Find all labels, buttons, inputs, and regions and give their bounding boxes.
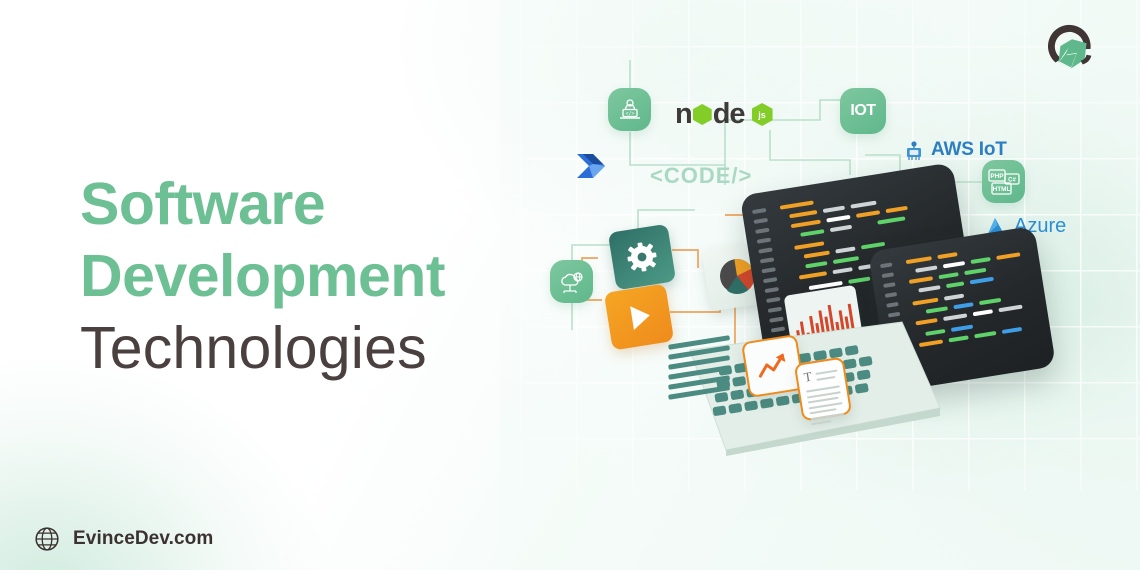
- aws-iot-icon: [902, 138, 926, 162]
- code-tag-text: <CODE/>: [650, 163, 752, 189]
- headline-line-3: Technologies: [80, 312, 550, 384]
- power-automate-icon: [575, 150, 615, 182]
- php-badge: PHP C# HTML: [982, 160, 1025, 203]
- developer-badge: </>: [608, 88, 651, 131]
- node-text-part2: de: [713, 98, 745, 131]
- document-icon: T: [803, 371, 813, 384]
- globe-icon: [34, 526, 60, 552]
- gear-card: [608, 224, 676, 291]
- node-hexagon-icon: [693, 104, 712, 125]
- aws-iot-badge: AWS IoT: [902, 138, 1007, 162]
- cloud-badge: [550, 260, 593, 303]
- developer-laptop-icon: </>: [617, 97, 643, 123]
- php-csharp-html-icon: PHP C# HTML: [987, 165, 1021, 199]
- svg-text:</>: </>: [625, 111, 634, 117]
- node-text-part1: n: [675, 98, 692, 131]
- footer-website[interactable]: EvinceDev.com: [34, 526, 213, 552]
- headline-line-2: Development: [80, 240, 550, 312]
- page-title: Software Development Technologies: [80, 168, 550, 384]
- iot-label: IOT: [850, 102, 875, 120]
- banner-root: Software Development Technologies Evince…: [0, 0, 1140, 570]
- svg-text:HTML: HTML: [992, 186, 1010, 193]
- document-card: T: [794, 356, 852, 421]
- iot-badge: IOT: [840, 88, 886, 134]
- svg-text:PHP: PHP: [990, 173, 1004, 180]
- gear-icon: [623, 238, 662, 277]
- nodejs-logo: n de js: [675, 98, 773, 131]
- website-label: EvinceDev.com: [73, 528, 213, 550]
- technology-illustration: n de js <CODE/>: [520, 0, 1140, 570]
- headline-line-1: Software: [80, 168, 550, 240]
- aws-iot-label: AWS IoT: [931, 139, 1007, 161]
- nodejs-js-badge: js: [752, 103, 773, 126]
- trending-up-icon: [754, 350, 792, 383]
- cloud-network-icon: [558, 269, 585, 295]
